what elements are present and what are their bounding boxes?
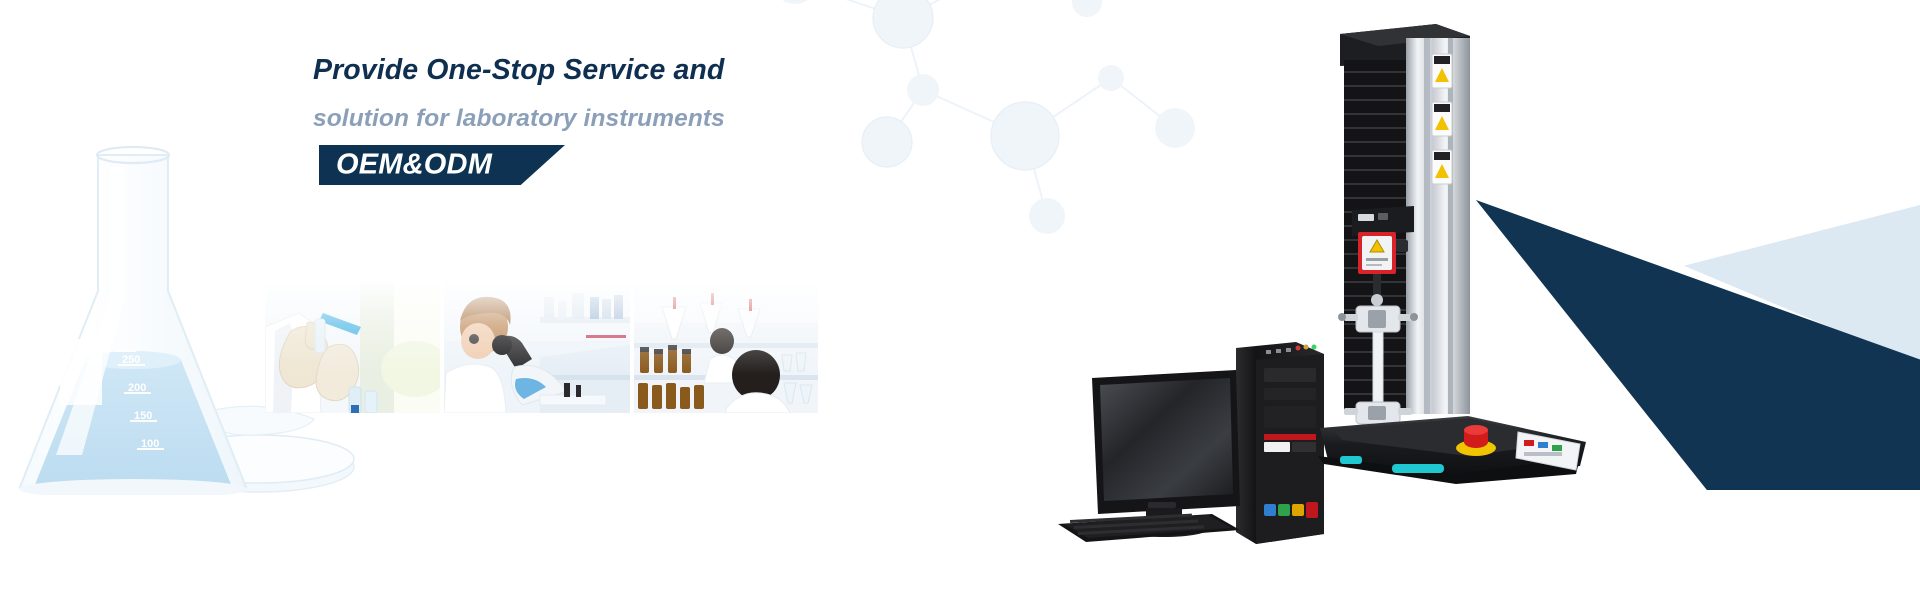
- petri-dish: [162, 406, 354, 492]
- photo-lab-workers-bench: [634, 283, 818, 413]
- headline-block: Provide One-Stop Service and solution fo…: [313, 56, 953, 185]
- photo-caption-2: Technician looking into a laboratory mic…: [0, 0, 1, 1]
- tester-specimen: [1373, 332, 1383, 406]
- tester-base: [1318, 416, 1586, 484]
- tester-crosshead: [1352, 206, 1414, 236]
- graduation-200: 200: [128, 382, 146, 394]
- photo-microscope-technician: [444, 283, 630, 413]
- photo-pipetting-gloved-hands: [265, 283, 440, 413]
- photo-caption-3: Lab workers among reagent shelves and gl…: [0, 0, 1, 1]
- tester-teal-accent: [1340, 456, 1362, 464]
- graduation-100: 100: [141, 438, 159, 450]
- headline: Provide One-Stop Service and: [313, 56, 953, 85]
- desktop-computer: [1040, 338, 1330, 548]
- graduation-unit: mL: [72, 336, 90, 350]
- computer-tower: [1236, 342, 1324, 544]
- photo-caption-1: Gloved hands pipetting blue reagent into…: [0, 0, 1, 1]
- badge-label: OEM&ODM: [336, 149, 492, 182]
- laboratory-photo-strip: [265, 283, 818, 413]
- promo-banner: 250 200 150 100 mL Provide One-Stop Serv…: [0, 0, 1920, 597]
- tester-column: [1406, 38, 1470, 414]
- computer-keyboard: [1058, 514, 1240, 542]
- computer-monitor: [1092, 370, 1240, 537]
- oem-odm-badge: OEM&ODM: [319, 145, 565, 185]
- tester-teal-accent: [1392, 464, 1444, 473]
- graduation-150: 150: [134, 410, 152, 422]
- erlenmeyer-flask: 250 200 150 100 mL: [19, 147, 247, 495]
- tester-warning-labels: [1432, 54, 1452, 184]
- subheadline: solution for laboratory instruments: [313, 107, 953, 132]
- graduation-250: 250: [122, 354, 140, 366]
